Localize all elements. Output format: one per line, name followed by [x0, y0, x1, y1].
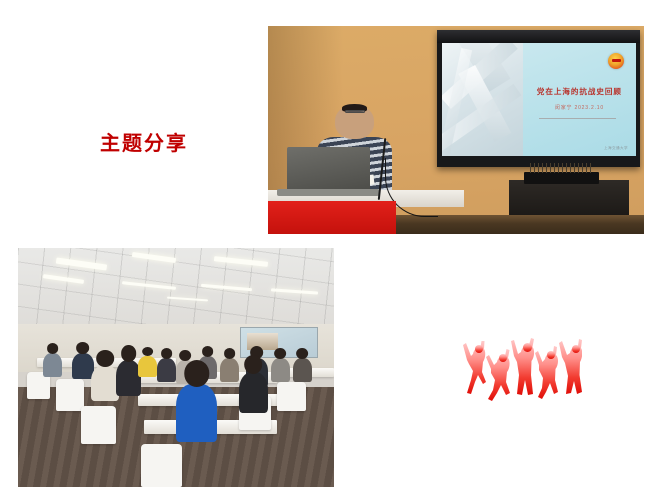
attendee [43, 353, 62, 377]
ceiling [18, 248, 334, 329]
presenter-photo: 党在上海的抗战史回顾 闵家宁 2023.2.10 上海交通大学 [268, 26, 644, 234]
attendee [293, 358, 312, 382]
screen-roller [437, 30, 640, 42]
projector-screen: 党在上海的抗战史回顾 闵家宁 2023.2.10 上海交通大学 [442, 43, 636, 157]
slide-logo-text: 上海交通大学 [604, 146, 628, 151]
attendee [91, 365, 119, 401]
chair [277, 382, 305, 411]
chair [56, 379, 84, 410]
party-emblem-icon [608, 53, 624, 69]
projector-screen-frame: 党在上海的抗战史回顾 闵家宁 2023.2.10 上海交通大学 [437, 30, 640, 167]
page-title: 主题分享 [100, 131, 280, 157]
attendee [239, 372, 267, 413]
desk-row [138, 394, 296, 406]
speaker-head [335, 105, 374, 139]
attendee [271, 358, 290, 382]
slide-canvas: 主题分享 党在上海的抗战史回顾 闵家宁 2023.2.10 上海交通大学 [0, 0, 665, 503]
slide-divider [539, 118, 617, 119]
equipment-cabinet [509, 180, 629, 215]
slide-architecture-artwork [442, 43, 524, 157]
slide-title-text: 党在上海的抗战史回顾 [527, 86, 632, 97]
laptop [287, 147, 370, 191]
attendee [176, 384, 217, 441]
chair [81, 406, 116, 444]
attendee [220, 358, 239, 382]
chair [141, 444, 182, 487]
jumping-people-silhouettes [458, 334, 582, 402]
red-table-banner [268, 201, 396, 234]
slide-subtitle-text: 闵家宁 2023.2.10 [527, 104, 632, 111]
audience-photo [18, 248, 334, 487]
attendee [157, 358, 176, 382]
audio-mixer [524, 172, 599, 184]
speaker-glasses-icon [345, 110, 365, 114]
attendee [138, 356, 157, 378]
